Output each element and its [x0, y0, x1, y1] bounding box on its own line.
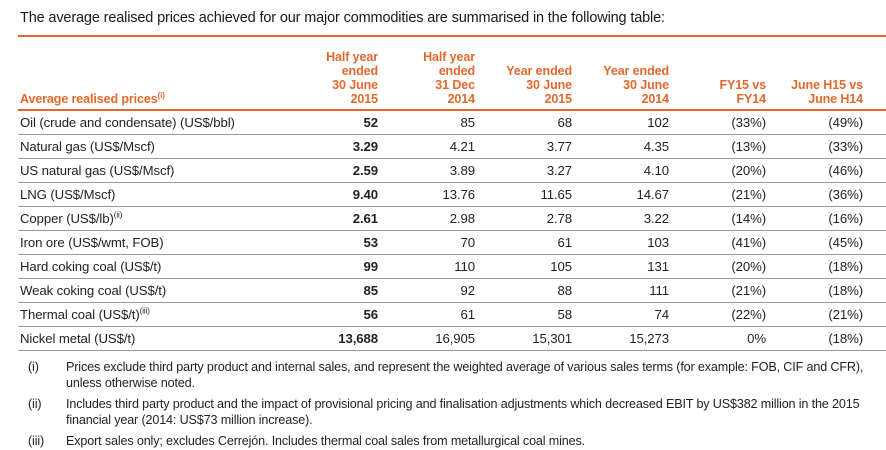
cell-value: 4.35: [579, 135, 676, 159]
cell-value: 13.76: [385, 183, 482, 207]
column-header-fy15-vs-fy14: FY15 vs FY14: [676, 36, 773, 110]
cell-value: 3.77: [482, 135, 579, 159]
cell-value: 15,273: [579, 327, 676, 351]
cell-value: (24%): [870, 231, 886, 255]
column-header-half-year-dec-2014: Half year ended 31 Dec 2014: [385, 36, 482, 110]
cell-value: 4.10: [579, 159, 676, 183]
cell-value: (20%): [676, 255, 773, 279]
cell-value: 111: [579, 279, 676, 303]
row-label-iron-ore: Iron ore (US$/wmt, FOB): [18, 231, 288, 255]
table-row: Natural gas (US$/Mscf) 3.29 4.21 3.77 4.…: [18, 135, 886, 159]
cell-value: 85: [288, 279, 385, 303]
footnote-marker: (i): [158, 91, 165, 100]
footnote-marker: (iii): [140, 307, 150, 316]
cell-value: (10%): [870, 255, 886, 279]
footnote-text-ii: Includes third party product and the imp…: [66, 397, 866, 428]
cell-value: (20%): [676, 159, 773, 183]
row-label-nickel-metal: Nickel metal (US$/t): [18, 327, 288, 351]
cell-value: 13,688: [288, 327, 385, 351]
cell-value: (22%): [676, 303, 773, 327]
cell-value: (33%): [773, 135, 870, 159]
table-body: Oil (crude and condensate) (US$/bbl) 52 …: [18, 110, 886, 351]
table-row: Copper (US$/lb)(ii) 2.61 2.98 2.78 3.22 …: [18, 207, 886, 231]
cell-value: 53: [288, 231, 385, 255]
cell-value: (19%): [870, 327, 886, 351]
cell-value: (16%): [773, 207, 870, 231]
footnote-text-iii: Export sales only; excludes Cerrejón. In…: [66, 434, 866, 450]
cell-value: 2.78: [482, 207, 579, 231]
cell-value: (33%): [870, 159, 886, 183]
footnote-marker: (ii): [114, 211, 122, 220]
row-label-text: Iron ore (US$/wmt, FOB): [20, 235, 164, 250]
row-label-text: Nickel metal (US$/t): [20, 331, 135, 346]
row-label-text: Thermal coal (US$/t): [20, 307, 140, 322]
column-header-year-ended-june-2015: Year ended 30 June 2015: [482, 36, 579, 110]
row-label-text: Hard coking coal (US$/t): [20, 259, 161, 274]
footnote-item: (i) Prices exclude third party product a…: [20, 360, 868, 391]
cell-value: (21%): [676, 183, 773, 207]
table-header: Average realised prices(i) Half year end…: [18, 36, 886, 110]
cell-value: 3.89: [385, 159, 482, 183]
cell-value: 2.59: [288, 159, 385, 183]
footnote-item: (iii) Export sales only; excludes Cerrej…: [20, 434, 868, 450]
page-container: The average realised prices achieved for…: [0, 0, 886, 450]
cell-value: 61: [385, 303, 482, 327]
cell-value: 88: [482, 279, 579, 303]
cell-value: 52: [288, 110, 385, 135]
column-header-average-realised-prices: Average realised prices(i): [18, 36, 288, 110]
cell-value: (33%): [676, 110, 773, 135]
column-header-label: Average realised prices: [20, 92, 158, 106]
intro-paragraph: The average realised prices achieved for…: [18, 0, 868, 27]
cell-value: 105: [482, 255, 579, 279]
cell-value: 99: [288, 255, 385, 279]
cell-value: (21%): [773, 303, 870, 327]
column-header-year-ended-june-2014: Year ended 30 June 2014: [579, 36, 676, 110]
footnote-marker-iii: (iii): [20, 434, 66, 450]
table-row: Oil (crude and condensate) (US$/bbl) 52 …: [18, 110, 886, 135]
cell-value: 102: [579, 110, 676, 135]
cell-value: (46%): [773, 159, 870, 183]
cell-value: 16,905: [385, 327, 482, 351]
row-label-lng: LNG (US$/Mscf): [18, 183, 288, 207]
table-header-row: Average realised prices(i) Half year end…: [18, 36, 886, 110]
cell-value: 2.61: [288, 207, 385, 231]
cell-value: 61: [482, 231, 579, 255]
cell-value: (12%): [870, 207, 886, 231]
cell-value: (49%): [773, 110, 870, 135]
footnote-marker-i: (i): [20, 360, 66, 391]
cell-value: 11.65: [482, 183, 579, 207]
cell-value: 92: [385, 279, 482, 303]
row-label-us-natural-gas: US natural gas (US$/Mscf): [18, 159, 288, 183]
cell-value: (13%): [676, 135, 773, 159]
cell-value: 14.67: [579, 183, 676, 207]
cell-value: (21%): [676, 279, 773, 303]
cell-value: 70: [385, 231, 482, 255]
cell-value: 56: [288, 303, 385, 327]
table-row: Weak coking coal (US$/t) 85 92 88 111 (2…: [18, 279, 886, 303]
row-label-oil: Oil (crude and condensate) (US$/bbl): [18, 110, 288, 135]
cell-value: 15,301: [482, 327, 579, 351]
cell-value: 74: [579, 303, 676, 327]
row-label-text: LNG (US$/Mscf): [20, 187, 115, 202]
cell-value: (18%): [773, 255, 870, 279]
cell-value: (39%): [870, 110, 886, 135]
cell-value: 3.29: [288, 135, 385, 159]
cell-value: 3.27: [482, 159, 579, 183]
row-label-thermal-coal: Thermal coal (US$/t)(iii): [18, 303, 288, 327]
table-row: Nickel metal (US$/t) 13,688 16,905 15,30…: [18, 327, 886, 351]
cell-value: (8%): [870, 279, 886, 303]
cell-value: (45%): [773, 231, 870, 255]
cell-value: (36%): [773, 183, 870, 207]
footnotes-block: (i) Prices exclude third party product a…: [18, 360, 868, 450]
cell-value: 2.98: [385, 207, 482, 231]
table-row: Hard coking coal (US$/t) 99 110 105 131 …: [18, 255, 886, 279]
footnote-item: (ii) Includes third party product and th…: [20, 397, 868, 428]
table-row: US natural gas (US$/Mscf) 2.59 3.89 3.27…: [18, 159, 886, 183]
table-row: LNG (US$/Mscf) 9.40 13.76 11.65 14.67 (2…: [18, 183, 886, 207]
cell-value: (18%): [773, 279, 870, 303]
cell-value: 85: [385, 110, 482, 135]
cell-value: 4.21: [385, 135, 482, 159]
row-label-hard-coking-coal: Hard coking coal (US$/t): [18, 255, 288, 279]
row-label-text: US natural gas (US$/Mscf): [20, 163, 174, 178]
cell-value: 110: [385, 255, 482, 279]
cell-value: 58: [482, 303, 579, 327]
row-label-text: Oil (crude and condensate) (US$/bbl): [20, 115, 235, 130]
average-realised-prices-table: Average realised prices(i) Half year end…: [18, 35, 886, 351]
column-header-juneh15-vs-juneh14: June H15 vs June H14: [773, 36, 870, 110]
cell-value: 103: [579, 231, 676, 255]
cell-value: (14%): [676, 207, 773, 231]
column-header-juneh15-vs-dech14: June H15 vs Dec H14: [870, 36, 886, 110]
row-label-text: Copper (US$/lb): [20, 211, 114, 226]
cell-value: 0%: [676, 327, 773, 351]
cell-value: (18%): [773, 327, 870, 351]
cell-value: (41%): [676, 231, 773, 255]
cell-value: (22%): [870, 135, 886, 159]
row-label-weak-coking-coal: Weak coking coal (US$/t): [18, 279, 288, 303]
column-header-half-year-june-2015: Half year ended 30 June 2015: [288, 36, 385, 110]
cell-value: 9.40: [288, 183, 385, 207]
cell-value: 131: [579, 255, 676, 279]
row-label-text: Natural gas (US$/Mscf): [20, 139, 155, 154]
row-label-text: Weak coking coal (US$/t): [20, 283, 166, 298]
row-label-natural-gas: Natural gas (US$/Mscf): [18, 135, 288, 159]
row-label-copper: Copper (US$/lb)(ii): [18, 207, 288, 231]
footnote-text-i: Prices exclude third party product and i…: [66, 360, 866, 391]
cell-value: 68: [482, 110, 579, 135]
cell-value: (8%): [870, 303, 886, 327]
cell-value: 3.22: [579, 207, 676, 231]
table-row: Iron ore (US$/wmt, FOB) 53 70 61 103 (41…: [18, 231, 886, 255]
footnote-marker-ii: (ii): [20, 397, 66, 428]
table-row: Thermal coal (US$/t)(iii) 56 61 58 74 (2…: [18, 303, 886, 327]
cell-value: (32%): [870, 183, 886, 207]
